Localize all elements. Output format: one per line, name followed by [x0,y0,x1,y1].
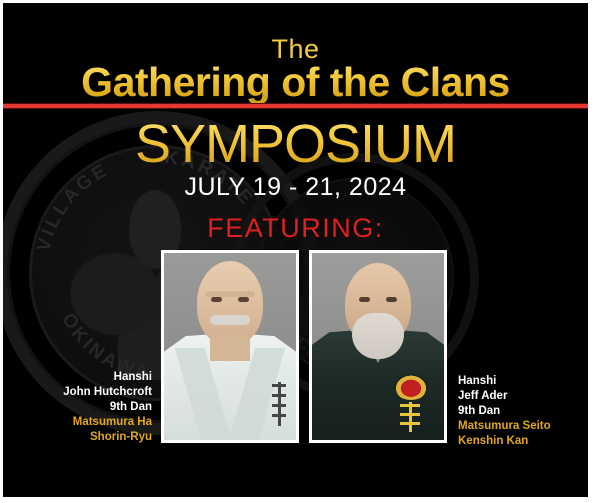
photo-frame-jeff-ader [309,250,447,443]
photo-frame-john-hutchcroft [161,250,299,443]
featuring-label: FEATURING: [3,213,588,244]
caption-john-hutchcroft: Hanshi John Hutchcroft 9th Dan Matsumura… [12,370,152,445]
caption-style-line1: Matsumura Ha [12,415,152,430]
caption-rank: 9th Dan [12,400,152,415]
neck [210,335,250,361]
event-dates: JULY 19 - 21, 2024 [3,173,588,202]
caption-name: Jeff Ader [458,389,588,404]
caption-title: Hanshi [12,370,152,385]
portrait-jeff-ader [312,253,444,440]
eye-left [359,297,370,302]
red-divider [3,103,588,109]
gi-kanji-embroidery-icon [400,402,422,436]
caption-name: John Hutchcroft [12,385,152,400]
gi-kanji-embroidery-icon [272,382,288,434]
caption-style-line1: Matsumura Seito [458,419,588,434]
caption-style-line2: Kenshin Kan [458,434,588,449]
subtitle-symposium: SYMPOSIUM [3,113,588,175]
dojo-patch-icon [394,374,428,400]
page-title: Gathering of the Clans [3,59,588,106]
mustache [210,315,250,325]
symposium-poster: VILLAGE KARATE OKINAWA ASSOCIATION The G… [3,3,588,497]
caption-rank: 9th Dan [458,404,588,419]
caption-style-line2: Shorin-Ryu [12,430,152,445]
caption-title: Hanshi [458,374,588,389]
caption-jeff-ader: Hanshi Jeff Ader 9th Dan Matsumura Seito… [458,374,588,449]
eye-right [386,297,397,302]
face [197,261,263,345]
eye-left [211,297,222,302]
eye-right [238,297,249,302]
portrait-john-hutchcroft [164,253,296,440]
beard [352,313,404,359]
